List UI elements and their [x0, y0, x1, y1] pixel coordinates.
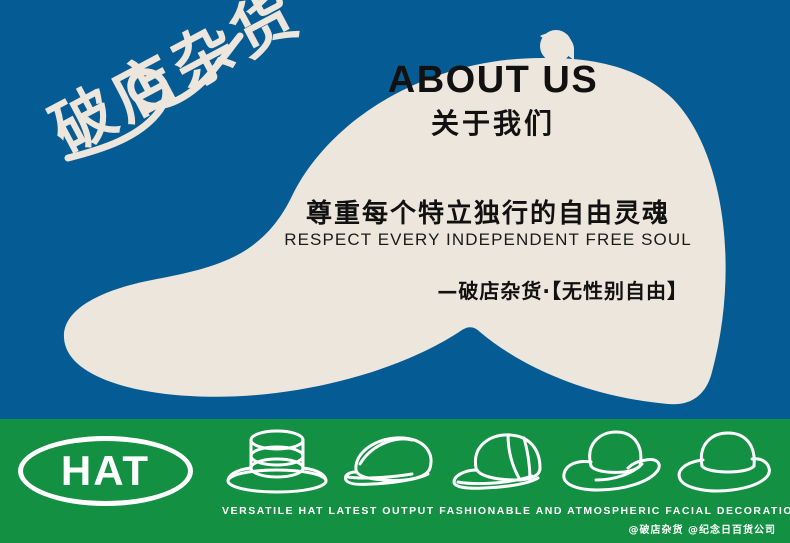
- about-title-cn: 关于我们: [278, 106, 708, 141]
- slogan-english: RESPECT EVERY INDEPENDENT FREE SOUL: [278, 230, 698, 250]
- cowboy-hat-icon: [558, 424, 668, 498]
- bucket-hat-icon: [222, 424, 332, 498]
- hat-icon-row: [222, 424, 782, 498]
- footer-handles: @破店杂货 @纪念日百货公司: [629, 521, 776, 536]
- poster-canvas: 破店杂货 ABOUT US 关于我们 尊重每个特立独行的自由灵魂 RESPECT…: [0, 0, 790, 543]
- badge-label: HAT: [18, 436, 193, 506]
- flat-cap-icon: [334, 424, 444, 498]
- hat-badge: HAT: [18, 436, 193, 506]
- about-heading-group: ABOUT US 关于我们: [278, 60, 708, 141]
- attribution-line: —破店杂货·【无性别自由】: [278, 275, 688, 304]
- about-title-en: ABOUT US: [278, 60, 708, 102]
- baseball-cap-icon: [446, 424, 556, 498]
- footer-tagline: VERSATILE HAT LATEST OUTPUT FASHIONABLE …: [222, 505, 782, 517]
- slogan-chinese: 尊重每个特立独行的自由灵魂: [278, 193, 698, 230]
- bowler-hat-icon: [670, 424, 780, 498]
